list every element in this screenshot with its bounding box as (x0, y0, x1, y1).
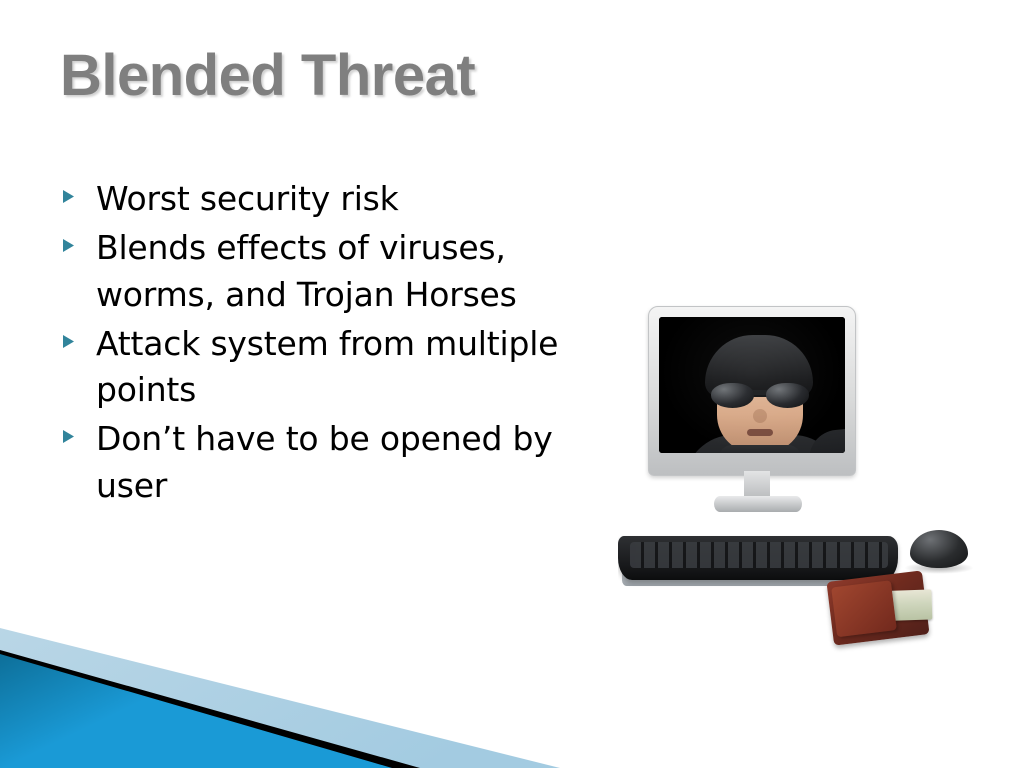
triangle-bullet-icon (62, 416, 96, 444)
monitor-stand-neck (744, 471, 770, 499)
list-item-label: Attack system from multiple points (96, 321, 622, 415)
triangle-bullet-icon (62, 176, 96, 204)
presentation-slide: Blended Threat Worst security risk Blend… (0, 0, 1024, 768)
page-title: Blended Threat (60, 42, 475, 109)
monitor-screen (659, 317, 845, 453)
wallet-flap (831, 580, 897, 637)
triangle-bullet-icon (62, 225, 96, 253)
slide-image (618, 258, 974, 658)
computer-mouse (910, 530, 968, 568)
bottom-left-decoration (0, 628, 560, 768)
list-item-label: Don’t have to be opened by user (96, 416, 622, 510)
keyboard (618, 536, 898, 580)
list-item-label: Blends effects of viruses, worms, and Tr… (96, 225, 622, 319)
bullet-list: Worst security risk Blends effects of vi… (62, 176, 622, 512)
monitor-stand-base (714, 496, 802, 512)
list-item: Attack system from multiple points (62, 321, 622, 415)
list-item: Don’t have to be opened by user (62, 416, 622, 510)
triangle-bullet-icon (62, 321, 96, 349)
list-item: Worst security risk (62, 176, 622, 223)
list-item: Blends effects of viruses, worms, and Tr… (62, 225, 622, 319)
list-item-label: Worst security risk (96, 176, 622, 223)
screen-glare (659, 317, 845, 453)
monitor-bezel (648, 306, 856, 476)
keyboard-keys (630, 542, 888, 568)
leather-wallet (826, 570, 929, 645)
